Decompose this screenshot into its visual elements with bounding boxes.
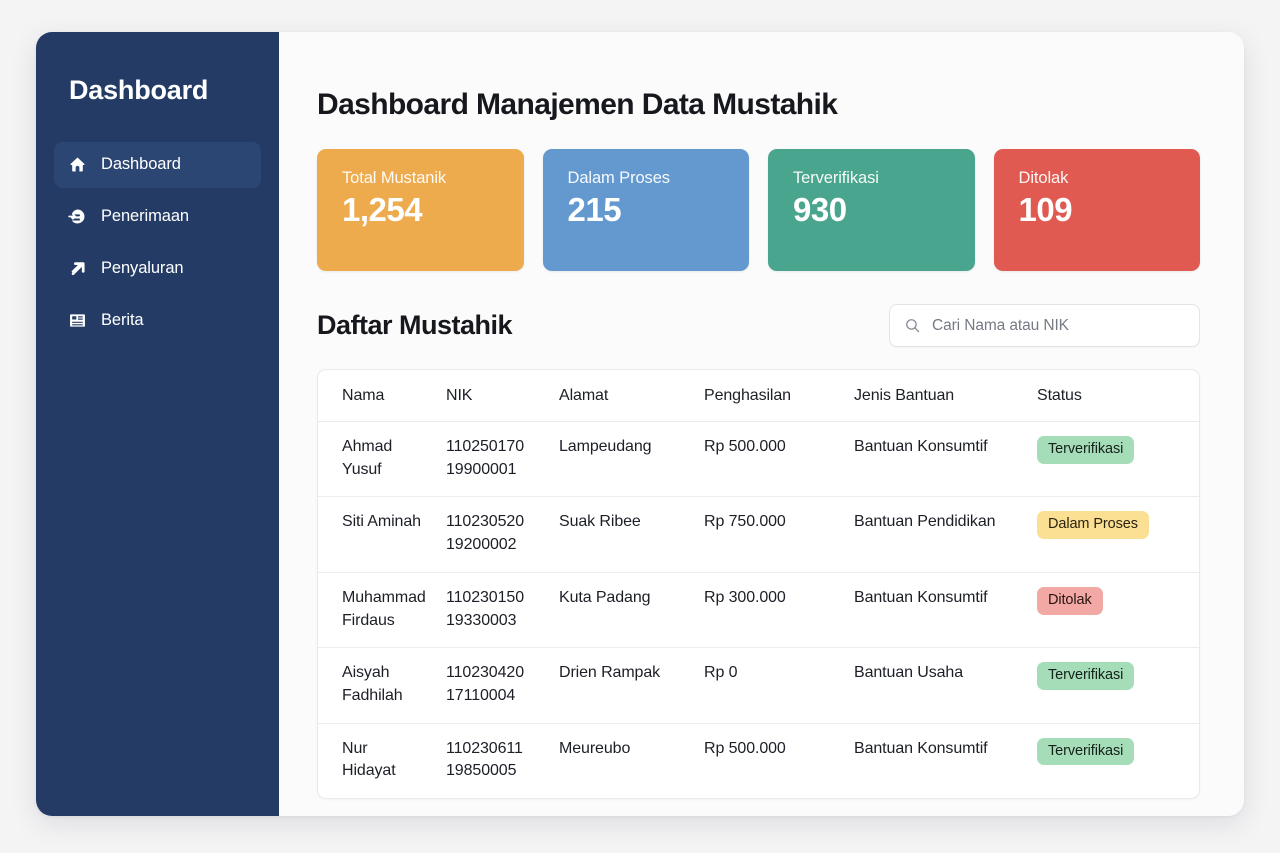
table-row[interactable]: Muhammad Firdaus 110230150 19330003 Kuta… xyxy=(318,572,1199,647)
arrow-up-right-icon xyxy=(68,259,87,278)
cell-jenis-bantuan: Bantuan Pendidikan xyxy=(854,497,1037,572)
table-row[interactable]: Nur Hidayat 110230611 19850005 Meureubo … xyxy=(318,723,1199,798)
cell-penghasilan: Rp 300.000 xyxy=(704,572,854,647)
sidebar-item-dashboard[interactable]: Dashboard xyxy=(54,142,261,188)
list-header: Daftar Mustahik xyxy=(317,304,1200,347)
news-icon xyxy=(68,311,87,330)
stat-card-value: 109 xyxy=(1019,192,1179,229)
column-header-status[interactable]: Status xyxy=(1037,370,1199,422)
sidebar: Dashboard Dashboard Penerimaan xyxy=(36,32,279,816)
cell-status: Terverifikasi xyxy=(1037,723,1199,798)
stat-card-terverifikasi[interactable]: Terverifikasi 930 xyxy=(768,149,975,271)
cell-penghasilan: Rp 0 xyxy=(704,648,854,723)
cell-status: Ditolak xyxy=(1037,572,1199,647)
search-icon xyxy=(904,317,921,334)
sidebar-item-label: Penyaluran xyxy=(101,259,183,278)
status-badge: Ditolak xyxy=(1037,587,1103,615)
cell-penghasilan: Rp 500.000 xyxy=(704,723,854,798)
search-input[interactable] xyxy=(932,317,1185,335)
sidebar-nav: Dashboard Penerimaan P xyxy=(36,142,279,344)
cell-jenis-bantuan: Bantuan Usaha xyxy=(854,648,1037,723)
stat-card-label: Terverifikasi xyxy=(793,169,953,188)
stat-card-total-mustanik[interactable]: Total Mustanik 1,254 xyxy=(317,149,524,271)
app-window: Dashboard Dashboard Penerimaan xyxy=(36,32,1244,816)
cell-jenis-bantuan: Bantuan Konsumtif xyxy=(854,572,1037,647)
cell-nik: 110230520 19200002 xyxy=(446,497,559,572)
page-title: Dashboard Manajemen Data Mustahik xyxy=(317,88,1200,122)
sidebar-item-label: Berita xyxy=(101,311,144,330)
cell-penghasilan: Rp 750.000 xyxy=(704,497,854,572)
stats-row: Total Mustanik 1,254 Dalam Proses 215 Te… xyxy=(317,149,1200,271)
table-body: Ahmad Yusuf 110250170 19900001 Lampeudan… xyxy=(318,422,1199,799)
table-row[interactable]: Ahmad Yusuf 110250170 19900001 Lampeudan… xyxy=(318,422,1199,497)
cell-alamat: Drien Rampak xyxy=(559,648,704,723)
cell-nik: 110230150 19330003 xyxy=(446,572,559,647)
mustahik-table-card: Nama NIK Alamat Penghasilan Jenis Bantua… xyxy=(317,369,1200,799)
cell-alamat: Kuta Padang xyxy=(559,572,704,647)
table-row[interactable]: Siti Aminah 110230520 19200002 Suak Ribe… xyxy=(318,497,1199,572)
cell-nama: Ahmad Yusuf xyxy=(318,422,446,497)
status-badge: Terverifikasi xyxy=(1037,738,1134,766)
stat-card-ditolak[interactable]: Ditolak 109 xyxy=(994,149,1201,271)
main-content: Dashboard Manajemen Data Mustahik Total … xyxy=(279,32,1244,816)
table-head: Nama NIK Alamat Penghasilan Jenis Bantua… xyxy=(318,370,1199,422)
sidebar-item-label: Penerimaan xyxy=(101,207,189,226)
cell-status: Terverifikasi xyxy=(1037,422,1199,497)
column-header-nik[interactable]: NIK xyxy=(446,370,559,422)
cell-nik: 110250170 19900001 xyxy=(446,422,559,497)
status-badge: Terverifikasi xyxy=(1037,436,1134,464)
home-icon xyxy=(68,155,87,174)
cell-alamat: Meureubo xyxy=(559,723,704,798)
sidebar-item-penerimaan[interactable]: Penerimaan xyxy=(54,194,261,240)
cell-nama: Nur Hidayat xyxy=(318,723,446,798)
stat-card-dalam-proses[interactable]: Dalam Proses 215 xyxy=(543,149,750,271)
cell-nik: 110230611 19850005 xyxy=(446,723,559,798)
cell-nama: Muhammad Firdaus xyxy=(318,572,446,647)
cell-status: Dalam Proses xyxy=(1037,497,1199,572)
stat-card-label: Total Mustanik xyxy=(342,169,502,188)
inbox-arrow-icon xyxy=(68,207,87,226)
sidebar-item-label: Dashboard xyxy=(101,155,181,174)
cell-jenis-bantuan: Bantuan Konsumtif xyxy=(854,422,1037,497)
stat-card-value: 930 xyxy=(793,192,953,229)
table-header-row: Nama NIK Alamat Penghasilan Jenis Bantua… xyxy=(318,370,1199,422)
cell-alamat: Suak Ribee xyxy=(559,497,704,572)
column-header-jenis-bantuan[interactable]: Jenis Bantuan xyxy=(854,370,1037,422)
sidebar-item-penyaluran[interactable]: Penyaluran xyxy=(54,246,261,292)
mustahik-table: Nama NIK Alamat Penghasilan Jenis Bantua… xyxy=(318,370,1199,798)
stat-card-label: Dalam Proses xyxy=(568,169,728,188)
column-header-alamat[interactable]: Alamat xyxy=(559,370,704,422)
sidebar-item-berita[interactable]: Berita xyxy=(54,298,261,344)
column-header-penghasilan[interactable]: Penghasilan xyxy=(704,370,854,422)
cell-jenis-bantuan: Bantuan Konsumtif xyxy=(854,723,1037,798)
table-row[interactable]: Aisyah Fadhilah 110230420 17110004 Drien… xyxy=(318,648,1199,723)
sidebar-brand: Dashboard xyxy=(36,76,279,106)
cell-penghasilan: Rp 500.000 xyxy=(704,422,854,497)
cell-status: Terverifikasi xyxy=(1037,648,1199,723)
stat-card-value: 215 xyxy=(568,192,728,229)
stat-card-label: Ditolak xyxy=(1019,169,1179,188)
status-badge: Dalam Proses xyxy=(1037,511,1149,539)
cell-nik: 110230420 17110004 xyxy=(446,648,559,723)
column-header-nama[interactable]: Nama xyxy=(318,370,446,422)
cell-alamat: Lampeudang xyxy=(559,422,704,497)
status-badge: Terverifikasi xyxy=(1037,662,1134,690)
stat-card-value: 1,254 xyxy=(342,192,502,229)
cell-nama: Aisyah Fadhilah xyxy=(318,648,446,723)
section-title: Daftar Mustahik xyxy=(317,310,512,341)
cell-nama: Siti Aminah xyxy=(318,497,446,572)
search-box[interactable] xyxy=(889,304,1200,347)
